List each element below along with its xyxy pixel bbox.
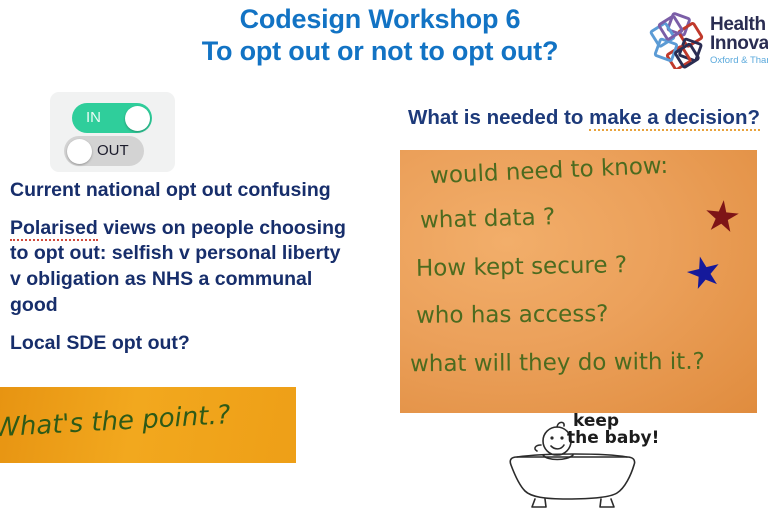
- key-points-list: Current national opt out confusing Polar…: [10, 178, 350, 356]
- logo-line-1: Health: [710, 15, 768, 34]
- brand-logo: Health Innovation Oxford & Thames: [648, 6, 768, 74]
- photo-note-line-2: what data ?: [420, 204, 556, 234]
- sticky-note-whats-the-point-text: What's the point.?: [0, 397, 295, 444]
- page-title: Codesign Workshop 6 To opt out or not to…: [90, 4, 670, 68]
- sticky-note-whats-the-point: What's the point.?: [0, 387, 296, 463]
- title-line-2: To opt out or not to opt out?: [90, 36, 670, 68]
- logo-wordmark: Health Innovation Oxford & Thames: [710, 15, 768, 66]
- photo-note-line-3: How kept secure ?: [416, 252, 627, 282]
- bullet-polarised: Polarised views on people choosing to op…: [10, 216, 350, 319]
- toggle-out-label: OUT: [97, 136, 129, 166]
- logo-line-3: Oxford & Thames: [710, 56, 768, 66]
- right-heading-underlined: make a decision?: [589, 106, 760, 131]
- doodle-caption-line-2: the baby!: [567, 430, 659, 447]
- bullet-local-sde: Local SDE opt out?: [10, 331, 350, 357]
- baby-in-bathtub-doodle: keep the baby!: [505, 415, 680, 510]
- blue-star-sticker-icon: [683, 252, 724, 293]
- toggle-in[interactable]: IN: [72, 103, 152, 133]
- toggle-out-knob[interactable]: [67, 139, 92, 164]
- logo-line-2: Innovation: [710, 34, 768, 53]
- spellcheck-word: Polarised: [10, 217, 98, 241]
- doodle-caption: keep the baby!: [567, 413, 659, 448]
- health-innovation-rosette-icon: [648, 11, 706, 69]
- right-section-heading: What is needed to make a decision?: [404, 104, 764, 131]
- photo-note-line-4: who has access?: [416, 301, 609, 329]
- toggle-in-knob[interactable]: [125, 106, 150, 131]
- photo-note-line-5: what will they do with it.?: [410, 349, 705, 378]
- opt-in-out-toggle-card: IN OUT: [50, 92, 175, 172]
- red-star-sticker-icon: [703, 198, 740, 235]
- toggle-out[interactable]: OUT: [64, 136, 144, 166]
- title-line-1: Codesign Workshop 6: [90, 4, 670, 36]
- toggle-in-label: IN: [86, 103, 101, 133]
- right-heading-plain: What is needed to: [408, 106, 589, 129]
- slide-canvas: Codesign Workshop 6 To opt out or not to…: [0, 0, 768, 512]
- photo-note-line-1: would need to know:: [430, 153, 669, 189]
- bullet-confusing: Current national opt out confusing: [10, 178, 350, 204]
- photo-note-what-is-needed: would need to know: what data ? How kept…: [400, 150, 757, 413]
